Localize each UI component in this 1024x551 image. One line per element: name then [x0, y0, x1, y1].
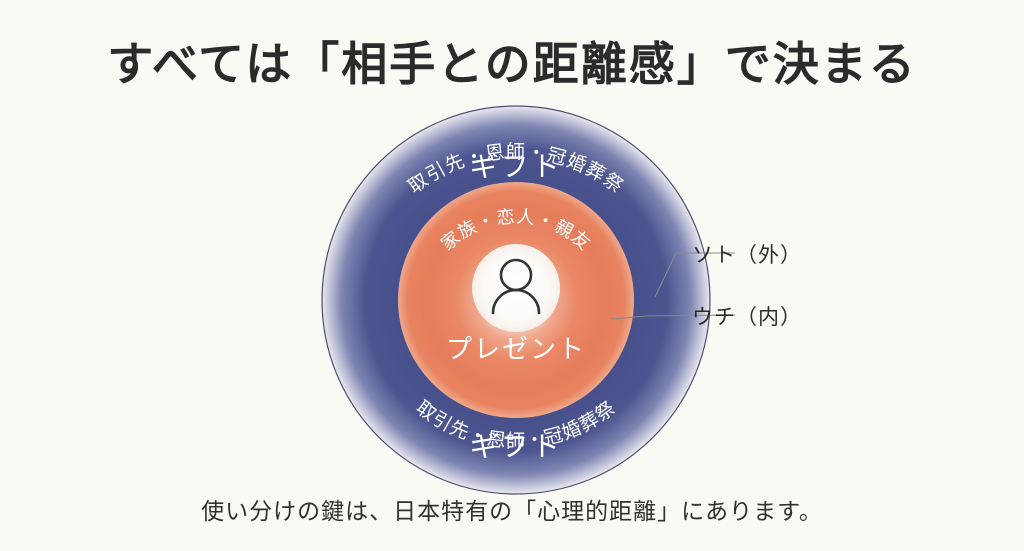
- callout-label-soto: ソト（外）: [692, 239, 802, 269]
- page-title: すべては「相手との距離感」で決まる: [0, 28, 1024, 94]
- diagram-svg: 取引先・恩師・冠婚葬祭 ギフト 取引先・恩師・冠婚葬祭 ギフト 家族・恋人・親友…: [0, 98, 1024, 498]
- circles-diagram: 取引先・恩師・冠婚葬祭 ギフト 取引先・恩師・冠婚葬祭 ギフト 家族・恋人・親友…: [0, 98, 1024, 498]
- infographic-page: すべては「相手との距離感」で決まる: [0, 0, 1024, 551]
- center-disc: [472, 244, 560, 332]
- inner-main-text: プレゼント: [446, 334, 586, 364]
- outer-bottom-main-text: ギフト: [469, 431, 562, 462]
- page-caption: 使い分けの鍵は、日本特有の「心理的距離」にあります。: [0, 492, 1024, 526]
- outer-top-main-text: ギフト: [469, 151, 562, 182]
- callout-label-uchi: ウチ（内）: [692, 301, 802, 331]
